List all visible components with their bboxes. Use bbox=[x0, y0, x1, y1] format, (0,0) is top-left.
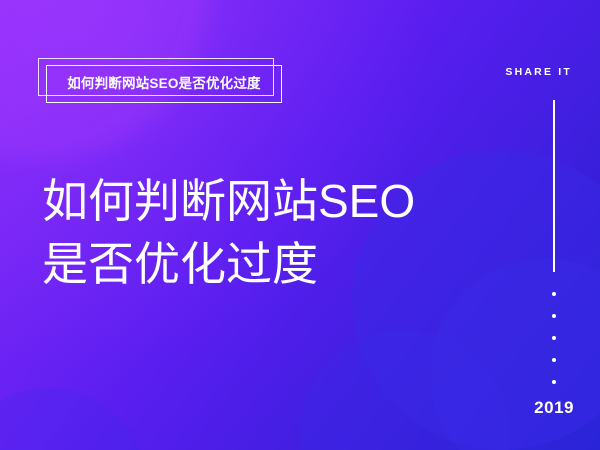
dot-list bbox=[548, 292, 560, 384]
vertical-rule bbox=[553, 100, 555, 272]
title-line-2: 是否优化过度 bbox=[42, 233, 462, 296]
share-it-label: SHARE IT bbox=[505, 66, 572, 78]
blob-bottom-left bbox=[0, 388, 148, 450]
badge-label: 如何判断网站SEO是否优化过度 bbox=[67, 77, 261, 91]
dot-2 bbox=[552, 314, 556, 318]
badge-front-frame: 如何判断网站SEO是否优化过度 bbox=[46, 65, 282, 103]
dot-3 bbox=[552, 336, 556, 340]
badge: 如何判断网站SEO是否优化过度 bbox=[38, 58, 288, 106]
title-line-1: 如何判断网站SEO bbox=[42, 170, 462, 233]
dot-4 bbox=[552, 358, 556, 362]
dot-1 bbox=[552, 292, 556, 296]
page-title: 如何判断网站SEO 是否优化过度 bbox=[42, 170, 462, 295]
poster-canvas: 如何判断网站SEO是否优化过度 SHARE IT 2019 如何判断网站SEO … bbox=[0, 0, 600, 450]
dot-5 bbox=[552, 380, 556, 384]
year-label: 2019 bbox=[534, 398, 574, 418]
